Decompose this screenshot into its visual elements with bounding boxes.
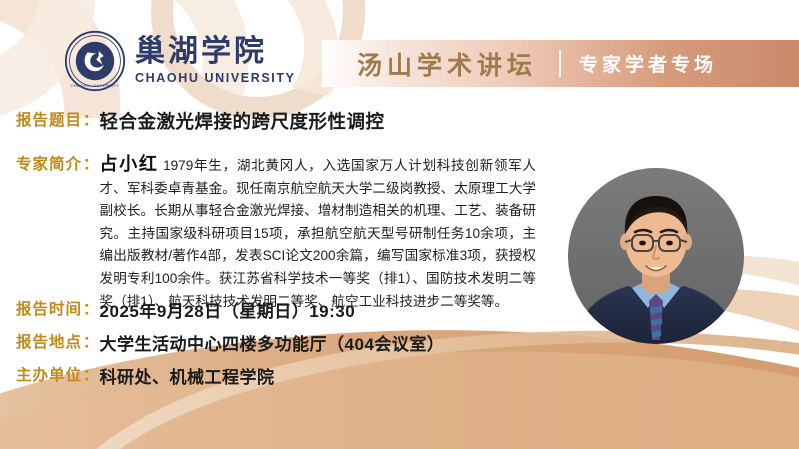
report-time-label: 报告时间	[16, 297, 82, 319]
report-title-row: 报告题目 ： 轻合金激光焊接的跨尺度形性调控	[16, 108, 385, 134]
speaker-bio-label: 专家简介	[16, 152, 82, 174]
report-time-value: 2025年9月28日（星期日）19:30	[100, 297, 356, 322]
report-title-value: 轻合金激光焊接的跨尺度形性调控	[100, 108, 385, 134]
report-place-row: 报告地点 ： 大学生活动中心四楼多功能厅（404会议室）	[16, 330, 444, 355]
poster-canvas: ✦ ✦ ✦ CHAOHU UNIVERSITY 巢湖学院 CHAOHU UNIV…	[0, 0, 799, 449]
report-place-value: 大学生活动中心四楼多功能厅（404会议室）	[100, 330, 445, 355]
speaker-name: 占小红	[100, 154, 159, 174]
report-place-label: 报告地点	[16, 330, 82, 352]
report-time-colon: ：	[83, 297, 99, 319]
speaker-portrait	[568, 168, 744, 344]
report-title-label: 报告题目	[16, 108, 82, 130]
speaker-bio-body: 1979年生，湖北黄冈人，入选国家万人计划科技创新领军人才、军科委卓青基金。现任…	[100, 158, 536, 309]
speaker-bio-text: 占小红 1979年生，湖北黄冈人，入选国家万人计划科技创新领军人才、军科委卓青基…	[100, 153, 536, 313]
report-host-label: 主办单位	[16, 363, 82, 385]
speaker-bio-colon: ：	[83, 152, 99, 174]
report-host-row: 主办单位 ： 科研处、机械工程学院	[16, 363, 275, 388]
report-place-colon: ：	[83, 330, 99, 352]
report-host-colon: ：	[83, 363, 99, 385]
report-title-colon: ：	[83, 108, 99, 130]
report-host-value: 科研处、机械工程学院	[100, 363, 275, 388]
report-time-row: 报告时间 ： 2025年9月28日（星期日）19:30	[16, 297, 355, 322]
speaker-portrait-image	[568, 168, 744, 344]
